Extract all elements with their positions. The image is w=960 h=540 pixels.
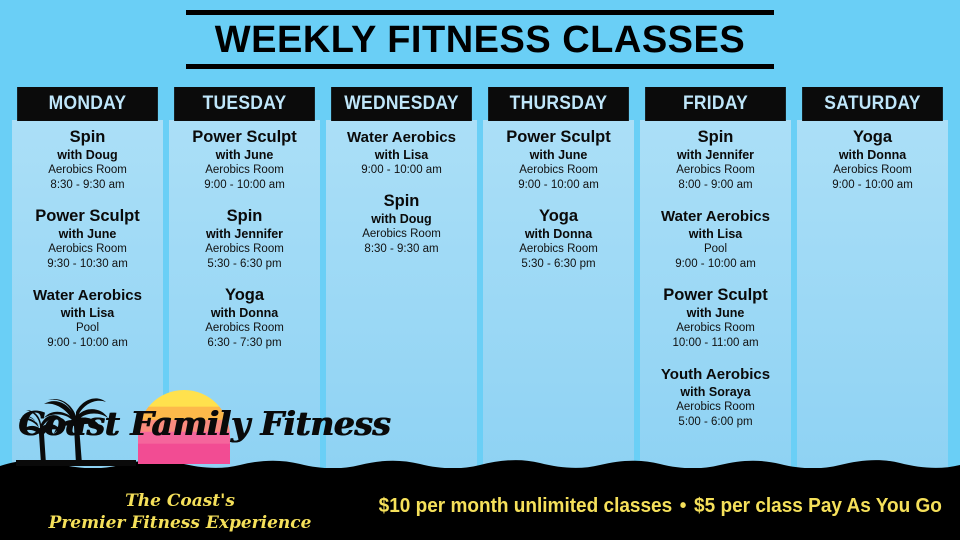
class-name: Power Sculpt xyxy=(171,128,318,147)
class-name: Power Sculpt xyxy=(14,207,161,226)
day-header-thursday: THURSDAY xyxy=(489,88,628,120)
class-time: 9:00 - 10:00 am xyxy=(799,178,946,193)
class-entry[interactable]: Power Sculptwith JuneAerobics Room9:00 -… xyxy=(485,128,632,193)
class-entry[interactable]: Spinwith JenniferAerobics Room8:00 - 9:0… xyxy=(642,128,789,193)
day-column-saturday: SATURDAYYogawith DonnaAerobics Room9:00 … xyxy=(797,88,948,474)
class-name: Yoga xyxy=(799,128,946,147)
day-header-friday: FRIDAY xyxy=(646,88,785,120)
class-room: Aerobics Room xyxy=(642,321,789,336)
day-column-thursday: THURSDAYPower Sculptwith JuneAerobics Ro… xyxy=(483,88,634,474)
class-entry[interactable]: Youth Aerobicswith SorayaAerobics Room5:… xyxy=(642,365,789,430)
class-time: 8:30 - 9:30 am xyxy=(14,178,161,193)
class-room: Aerobics Room xyxy=(485,163,632,178)
class-instructor: with June xyxy=(642,305,789,321)
class-name: Spin xyxy=(171,207,318,226)
class-name: Yoga xyxy=(171,286,318,305)
class-instructor: with Lisa xyxy=(642,226,789,242)
logo-wordmark: Coast Family Fitness xyxy=(8,404,338,444)
class-instructor: with Donna xyxy=(485,226,632,242)
class-entry[interactable]: Water Aerobicswith Lisa9:00 - 10:00 am xyxy=(328,128,475,178)
class-instructor: with Jennifer xyxy=(642,147,789,163)
class-time: 5:30 - 6:30 pm xyxy=(171,257,318,272)
day-body-thursday: Power Sculptwith JuneAerobics Room9:00 -… xyxy=(483,120,634,474)
class-name: Power Sculpt xyxy=(485,128,632,147)
class-time: 9:00 - 10:00 am xyxy=(328,163,475,178)
class-entry[interactable]: Yogawith DonnaAerobics Room6:30 - 7:30 p… xyxy=(171,286,318,351)
class-instructor: with Jennifer xyxy=(171,226,318,242)
class-room: Aerobics Room xyxy=(14,242,161,257)
class-name: Water Aerobics xyxy=(14,286,161,305)
title-rule-bottom xyxy=(186,64,774,69)
class-instructor: with Doug xyxy=(14,147,161,163)
class-entry[interactable]: Power Sculptwith JuneAerobics Room10:00 … xyxy=(642,286,789,351)
day-header-wednesday: WEDNESDAY xyxy=(332,88,471,120)
day-column-friday: FRIDAYSpinwith JenniferAerobics Room8:00… xyxy=(640,88,791,474)
class-name: Spin xyxy=(642,128,789,147)
class-entry[interactable]: Power Sculptwith JuneAerobics Room9:00 -… xyxy=(171,128,318,193)
tagline-line-1: The Coast's xyxy=(40,490,320,512)
class-time: 8:00 - 9:00 am xyxy=(642,178,789,193)
class-room: Aerobics Room xyxy=(328,227,475,242)
class-instructor: with Donna xyxy=(799,147,946,163)
class-time: 9:00 - 10:00 am xyxy=(642,257,789,272)
class-name: Spin xyxy=(328,192,475,211)
pricing-banner: $10 per month unlimited classes•$5 per c… xyxy=(379,495,942,518)
day-header-tuesday: TUESDAY xyxy=(175,88,314,120)
class-instructor: with June xyxy=(485,147,632,163)
class-name: Water Aerobics xyxy=(642,207,789,226)
class-time: 9:00 - 10:00 am xyxy=(485,178,632,193)
class-entry[interactable]: Yogawith DonnaAerobics Room9:00 - 10:00 … xyxy=(799,128,946,193)
class-entry[interactable]: Water Aerobicswith LisaPool9:00 - 10:00 … xyxy=(14,286,161,351)
class-time: 9:00 - 10:00 am xyxy=(14,336,161,351)
class-name: Yoga xyxy=(485,207,632,226)
class-entry[interactable]: Spinwith DougAerobics Room8:30 - 9:30 am xyxy=(328,192,475,257)
class-entry[interactable]: Power Sculptwith JuneAerobics Room9:30 -… xyxy=(14,207,161,272)
class-time: 8:30 - 9:30 am xyxy=(328,242,475,257)
class-room: Aerobics Room xyxy=(171,242,318,257)
brand-logo: Coast Family Fitness xyxy=(8,388,328,466)
class-name: Water Aerobics xyxy=(328,128,475,147)
class-room: Aerobics Room xyxy=(171,321,318,336)
pricing-bullet: • xyxy=(672,495,694,517)
class-name: Spin xyxy=(14,128,161,147)
class-time: 5:00 - 6:00 pm xyxy=(642,415,789,430)
class-name: Power Sculpt xyxy=(642,286,789,305)
class-room: Pool xyxy=(642,242,789,257)
class-room: Aerobics Room xyxy=(171,163,318,178)
class-instructor: with June xyxy=(171,147,318,163)
brand-tagline: The Coast's Premier Fitness Experience xyxy=(40,490,320,534)
class-instructor: with Doug xyxy=(328,211,475,227)
title-rule-top xyxy=(186,10,774,15)
tagline-line-2: Premier Fitness Experience xyxy=(40,512,320,534)
day-body-saturday: Yogawith DonnaAerobics Room9:00 - 10:00 … xyxy=(797,120,948,474)
class-room: Aerobics Room xyxy=(14,163,161,178)
pricing-monthly: $10 per month unlimited classes xyxy=(379,495,673,517)
class-entry[interactable]: Yogawith DonnaAerobics Room5:30 - 6:30 p… xyxy=(485,207,632,272)
class-instructor: with Lisa xyxy=(328,147,475,163)
class-room: Aerobics Room xyxy=(642,163,789,178)
class-room: Aerobics Room xyxy=(799,163,946,178)
class-time: 9:30 - 10:30 am xyxy=(14,257,161,272)
page-title: WEEKLY FITNESS CLASSES xyxy=(0,17,960,63)
poster-title-block: WEEKLY FITNESS CLASSES xyxy=(0,10,960,69)
class-room: Pool xyxy=(14,321,161,336)
class-instructor: with Lisa xyxy=(14,305,161,321)
day-header-saturday: SATURDAY xyxy=(803,88,942,120)
class-time: 10:00 - 11:00 am xyxy=(642,336,789,351)
class-time: 9:00 - 10:00 am xyxy=(171,178,318,193)
class-instructor: with June xyxy=(14,226,161,242)
class-instructor: with Donna xyxy=(171,305,318,321)
class-entry[interactable]: Water Aerobicswith LisaPool9:00 - 10:00 … xyxy=(642,207,789,272)
pricing-per-class: $5 per class Pay As You Go xyxy=(694,495,942,517)
day-body-friday: Spinwith JenniferAerobics Room8:00 - 9:0… xyxy=(640,120,791,474)
day-header-monday: MONDAY xyxy=(18,88,157,120)
class-name: Youth Aerobics xyxy=(642,365,789,384)
class-instructor: with Soraya xyxy=(642,384,789,400)
class-room: Aerobics Room xyxy=(485,242,632,257)
class-room: Aerobics Room xyxy=(642,400,789,415)
class-entry[interactable]: Spinwith JenniferAerobics Room5:30 - 6:3… xyxy=(171,207,318,272)
class-time: 6:30 - 7:30 pm xyxy=(171,336,318,351)
class-time: 5:30 - 6:30 pm xyxy=(485,257,632,272)
class-entry[interactable]: Spinwith DougAerobics Room8:30 - 9:30 am xyxy=(14,128,161,193)
